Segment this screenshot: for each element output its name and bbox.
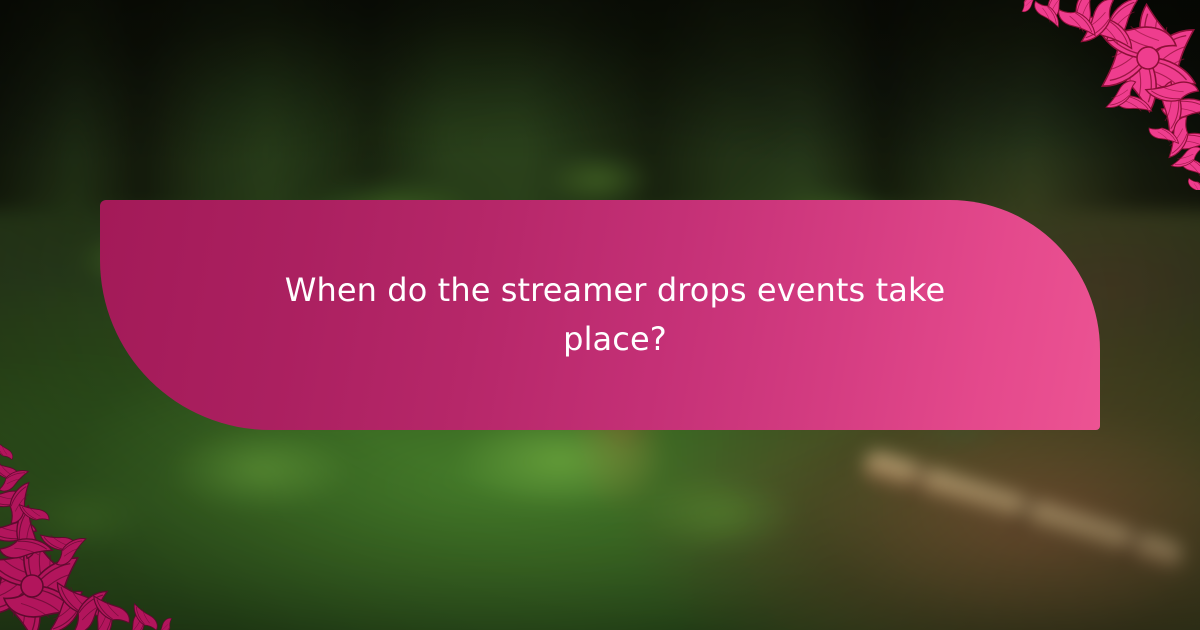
floral-ornament-top-right-icon	[1010, 0, 1200, 190]
question-card: When do the streamer drops events take p…	[0, 0, 1200, 630]
floral-ornament-bottom-left-icon	[0, 440, 190, 630]
question-banner: When do the streamer drops events take p…	[100, 200, 1100, 430]
question-text: When do the streamer drops events take p…	[260, 266, 970, 363]
